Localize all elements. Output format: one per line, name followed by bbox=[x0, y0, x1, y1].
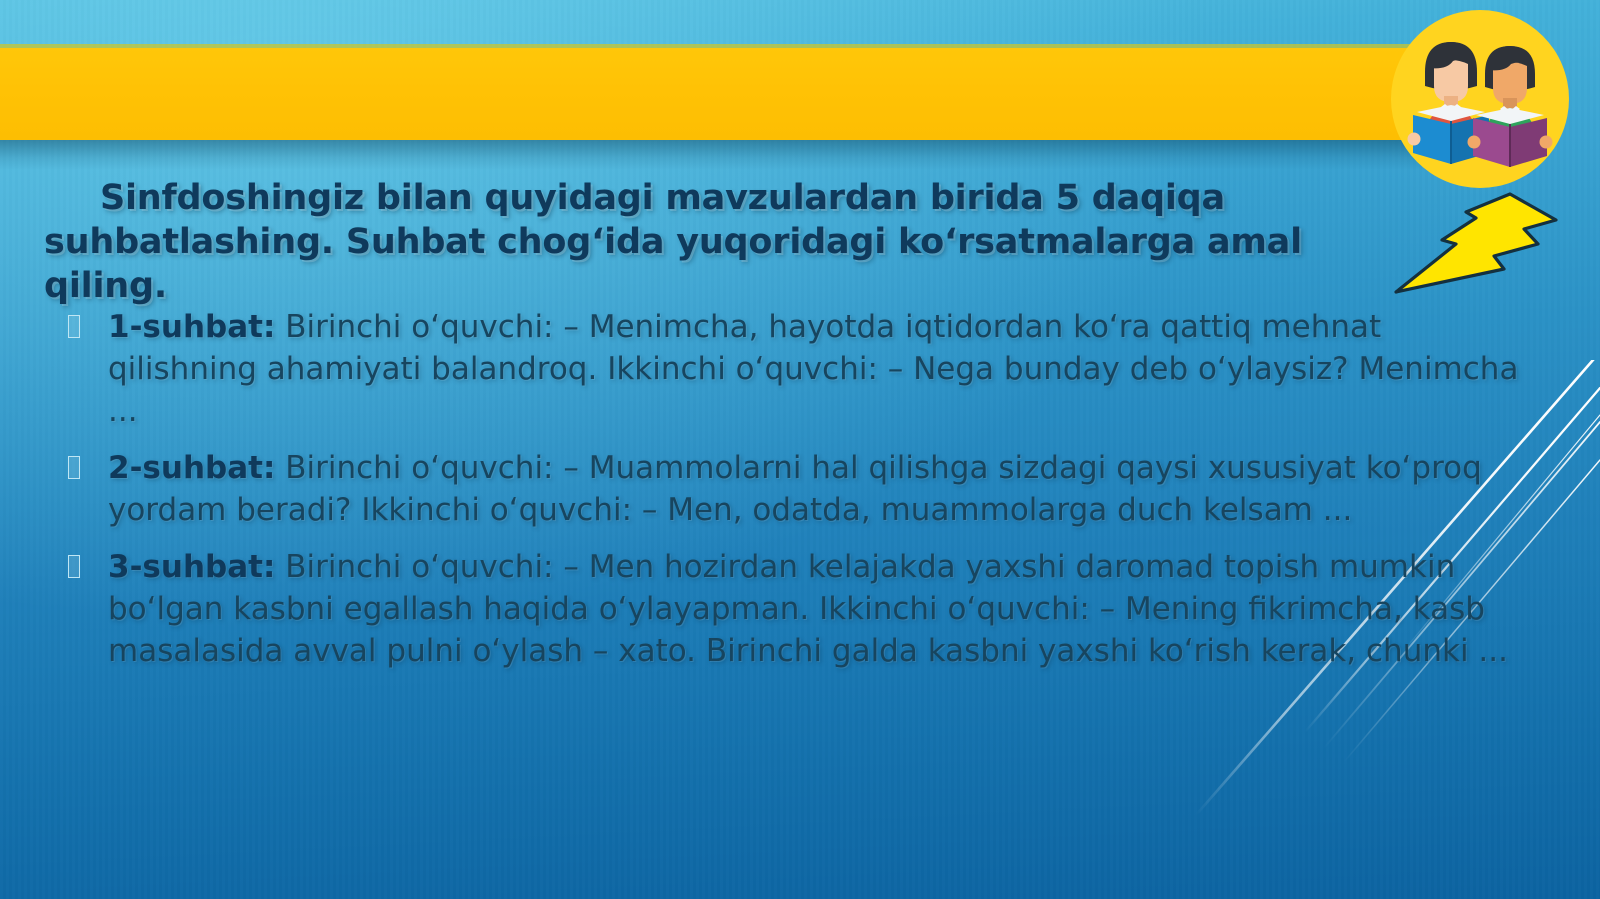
list-item-label: 3-suhbat: bbox=[108, 549, 275, 585]
slide-text-content: Sinfdoshingiz bilan quyidagi mavzulardan… bbox=[0, 0, 1600, 899]
conversation-topics-list: 1-suhbat: Birinchi o‘quvchi: – Menimcha,… bbox=[62, 306, 1532, 684]
bullet-marker-icon bbox=[68, 315, 80, 338]
slide-canvas: Sinfdoshingiz bilan quyidagi mavzulardan… bbox=[0, 0, 1600, 899]
list-item: 1-suhbat: Birinchi o‘quvchi: – Menimcha,… bbox=[62, 306, 1532, 432]
list-item-text: Birinchi o‘quvchi: – Men hozirdan kelaja… bbox=[108, 549, 1508, 669]
list-item-text: Birinchi o‘quvchi: – Muammolarni hal qil… bbox=[108, 450, 1482, 528]
list-item: 3-suhbat: Birinchi o‘quvchi: – Men hozir… bbox=[62, 546, 1532, 672]
bullet-marker-icon bbox=[68, 456, 80, 479]
bullet-marker-icon bbox=[68, 555, 80, 578]
page-title: Sinfdoshingiz bilan quyidagi mavzulardan… bbox=[44, 176, 1334, 308]
list-item-label: 1-suhbat: bbox=[108, 309, 275, 345]
list-item-text: Birinchi o‘quvchi: – Menimcha, hayotda i… bbox=[108, 309, 1518, 429]
list-item: 2-suhbat: Birinchi o‘quvchi: – Muammolar… bbox=[62, 447, 1532, 531]
list-item-label: 2-suhbat: bbox=[108, 450, 275, 486]
